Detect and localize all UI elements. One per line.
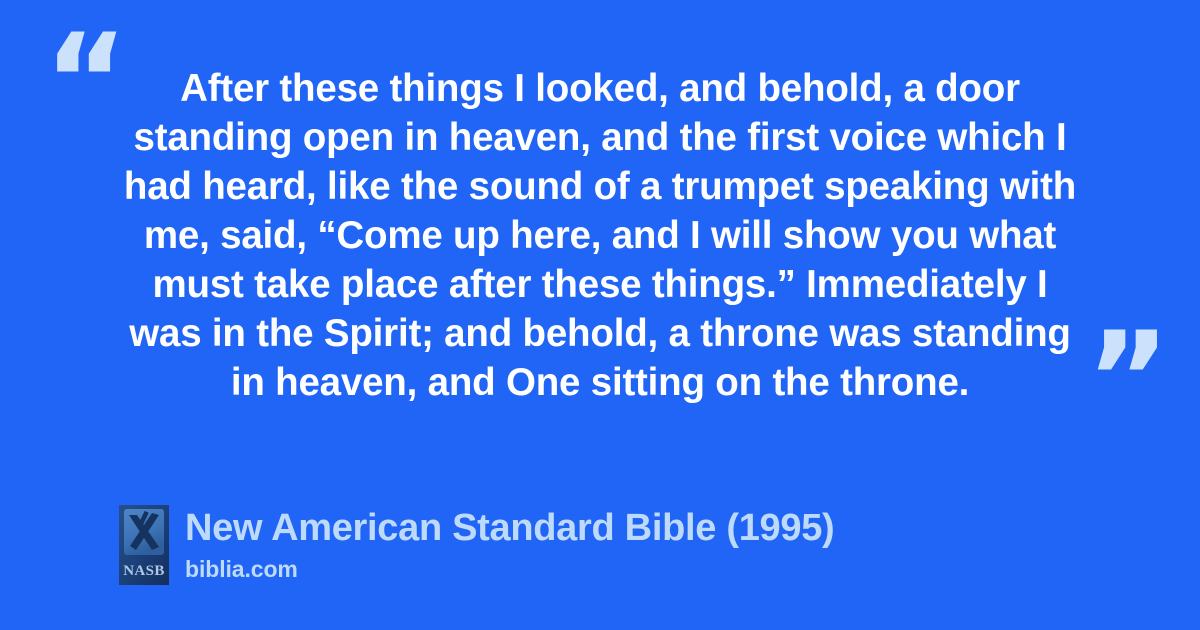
quote-text: After these things I looked, and behold,… (100, 64, 1100, 407)
svg-text:NASB: NASB (123, 563, 165, 579)
nasb-logo-icon: NASB (119, 505, 169, 585)
source-site-label: biblia.com (185, 555, 834, 583)
bible-version-title: New American Standard Bible (1995) (185, 505, 834, 551)
quote-card: “ ” After these things I looked, and beh… (0, 0, 1200, 630)
attribution-text-group: New American Standard Bible (1995) bibli… (185, 505, 834, 583)
attribution: NASB New American Standard Bible (1995) … (119, 505, 834, 585)
